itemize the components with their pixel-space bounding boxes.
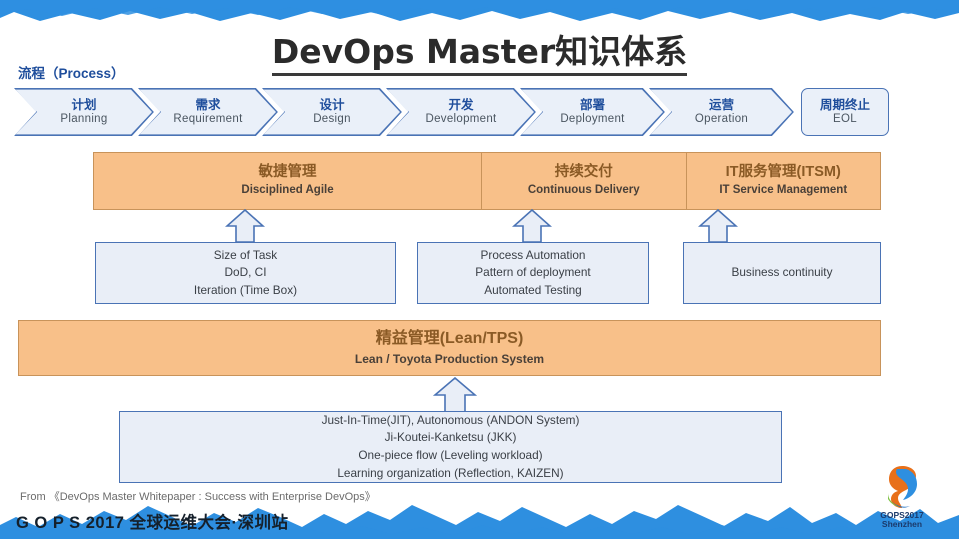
lean-band-label-cn: 精益管理(Lean/TPS) bbox=[376, 329, 524, 349]
process-stage-label-cn: 运营 bbox=[695, 98, 748, 112]
process-stage-label-en: Deployment bbox=[560, 113, 624, 126]
detail-box-text: Process Automation Pattern of deployment… bbox=[475, 247, 590, 298]
detail-line: Business continuity bbox=[732, 264, 833, 281]
detail-line: Automated Testing bbox=[475, 282, 590, 299]
practice-label-en: IT Service Management bbox=[719, 184, 847, 198]
lean-band[interactable]: 精益管理(Lean/TPS) Lean / Toyota Production … bbox=[18, 320, 881, 376]
process-stage-label-cn: 周期终止 bbox=[820, 98, 870, 112]
process-stage-development[interactable]: 开发 Development bbox=[386, 88, 536, 136]
practice-label-en: Disciplined Agile bbox=[241, 184, 333, 198]
gops-logo: GOPS2017 Shenzhen bbox=[859, 463, 945, 535]
process-stage-label-cn: 设计 bbox=[313, 98, 351, 112]
detail-box-text: Size of Task DoD, CI Iteration (Time Box… bbox=[194, 247, 297, 298]
lean-detail-box[interactable]: Just-In-Time(JIT), Autonomous (ANDON Sys… bbox=[119, 411, 782, 483]
up-arrow-itsm-icon bbox=[698, 209, 738, 243]
practice-label-cn: 持续交付 bbox=[555, 164, 613, 181]
up-arrow-lean-icon bbox=[433, 377, 477, 413]
process-stage-requirement[interactable]: 需求 Requirement bbox=[138, 88, 278, 136]
process-section-caption: 流程（Process） bbox=[18, 62, 125, 82]
practice-label-cn: 敏捷管理 bbox=[259, 164, 317, 181]
lean-detail-line: One-piece flow (Leveling workload) bbox=[358, 447, 542, 465]
practice-band: 敏捷管理 Disciplined Agile 持续交付 Continuous D… bbox=[93, 152, 881, 210]
process-stage-label-en: Planning bbox=[60, 113, 107, 126]
process-stage-planning[interactable]: 计划 Planning bbox=[14, 88, 154, 136]
process-stage-eol[interactable]: 周期终止 EOL bbox=[801, 88, 889, 136]
detail-box-text: Business continuity bbox=[732, 264, 833, 281]
detail-box-agile[interactable]: Size of Task DoD, CI Iteration (Time Box… bbox=[95, 242, 396, 304]
lean-detail-line: Learning organization (Reflection, KAIZE… bbox=[337, 465, 563, 483]
practice-label-en: Continuous Delivery bbox=[528, 184, 640, 198]
page-title-text: DevOps Master知识体系 bbox=[272, 32, 687, 76]
detail-line: Pattern of deployment bbox=[475, 264, 590, 281]
lean-detail-line: Ji-Koutei-Kanketsu (JKK) bbox=[385, 429, 517, 447]
detail-box-continuous-delivery[interactable]: Process Automation Pattern of deployment… bbox=[417, 242, 649, 304]
lean-detail-line: Just-In-Time(JIT), Autonomous (ANDON Sys… bbox=[322, 412, 580, 430]
practice-cell-continuous-delivery[interactable]: 持续交付 Continuous Delivery bbox=[481, 153, 685, 209]
practice-cell-disciplined-agile[interactable]: 敏捷管理 Disciplined Agile bbox=[94, 153, 481, 209]
detail-line: DoD, CI bbox=[194, 264, 297, 281]
detail-line: Iteration (Time Box) bbox=[194, 282, 297, 299]
process-stage-operation[interactable]: 运营 Operation bbox=[649, 88, 794, 136]
process-stage-design[interactable]: 设计 Design bbox=[262, 88, 402, 136]
page-title: DevOps Master知识体系 bbox=[0, 25, 959, 73]
slide-canvas: DevOps Master知识体系 流程（Process） 计划 Plannin… bbox=[0, 0, 959, 539]
process-pipeline: 计划 Planning 需求 Requirement 设计 Design 开发 … bbox=[14, 88, 894, 136]
process-stage-label-en: Operation bbox=[695, 113, 748, 126]
practice-label-cn: IT服务管理(ITSM) bbox=[726, 164, 841, 181]
up-arrow-continuous-delivery-icon bbox=[512, 209, 552, 243]
process-stage-label-en: EOL bbox=[820, 113, 870, 126]
process-stage-label-en: Development bbox=[425, 113, 496, 126]
process-stage-label-en: Design bbox=[313, 113, 351, 126]
gops-swirl-icon bbox=[872, 463, 932, 511]
source-attribution: From 《DevOps Master Whitepaper : Success… bbox=[20, 488, 376, 504]
process-stage-label-cn: 部署 bbox=[560, 98, 624, 112]
detail-line: Size of Task bbox=[194, 247, 297, 264]
detail-line: Process Automation bbox=[475, 247, 590, 264]
process-stage-deployment[interactable]: 部署 Deployment bbox=[520, 88, 665, 136]
detail-box-itsm[interactable]: Business continuity bbox=[683, 242, 881, 304]
up-arrow-agile-icon bbox=[225, 209, 265, 243]
process-stage-label-cn: 开发 bbox=[425, 98, 496, 112]
conference-footer-title: G O P S 2017 全球运维大会·深圳站 bbox=[16, 509, 289, 533]
gops-logo-caption-line2: Shenzhen bbox=[859, 520, 945, 529]
process-stage-label-cn: 需求 bbox=[173, 98, 242, 112]
process-stage-label-cn: 计划 bbox=[60, 98, 107, 112]
practice-cell-it-service-management[interactable]: IT服务管理(ITSM) IT Service Management bbox=[686, 153, 881, 209]
lean-band-label-en: Lean / Toyota Production System bbox=[355, 352, 544, 367]
process-stage-label-en: Requirement bbox=[173, 113, 242, 126]
